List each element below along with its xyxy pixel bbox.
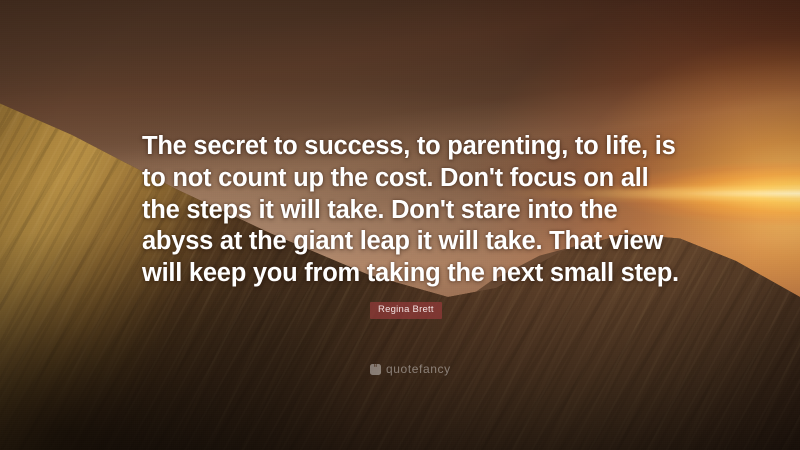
quote-mark-logo-icon: “ [370, 364, 381, 375]
quote-poster: The secret to success, to parenting, to … [0, 0, 800, 450]
quotefancy-watermark[interactable]: “ quotefancy [370, 363, 451, 375]
quote-line-1: The secret to success, to parenting, to … [142, 131, 670, 163]
author-attribution-badge[interactable]: Regina Brett [370, 302, 442, 319]
quote-line-4: abyss at the giant leap it will take. Th… [142, 226, 670, 258]
quote-mark-glyph: “ [374, 364, 378, 372]
quote-text-block: The secret to success, to parenting, to … [142, 131, 670, 290]
watermark-brand-label: quotefancy [386, 363, 451, 375]
quote-line-2: to not count up the cost. Don't focus on… [142, 163, 670, 195]
quote-line-3: the steps it will take. Don't stare into… [142, 195, 670, 227]
quote-line-5: will keep you from taking the next small… [142, 258, 670, 290]
